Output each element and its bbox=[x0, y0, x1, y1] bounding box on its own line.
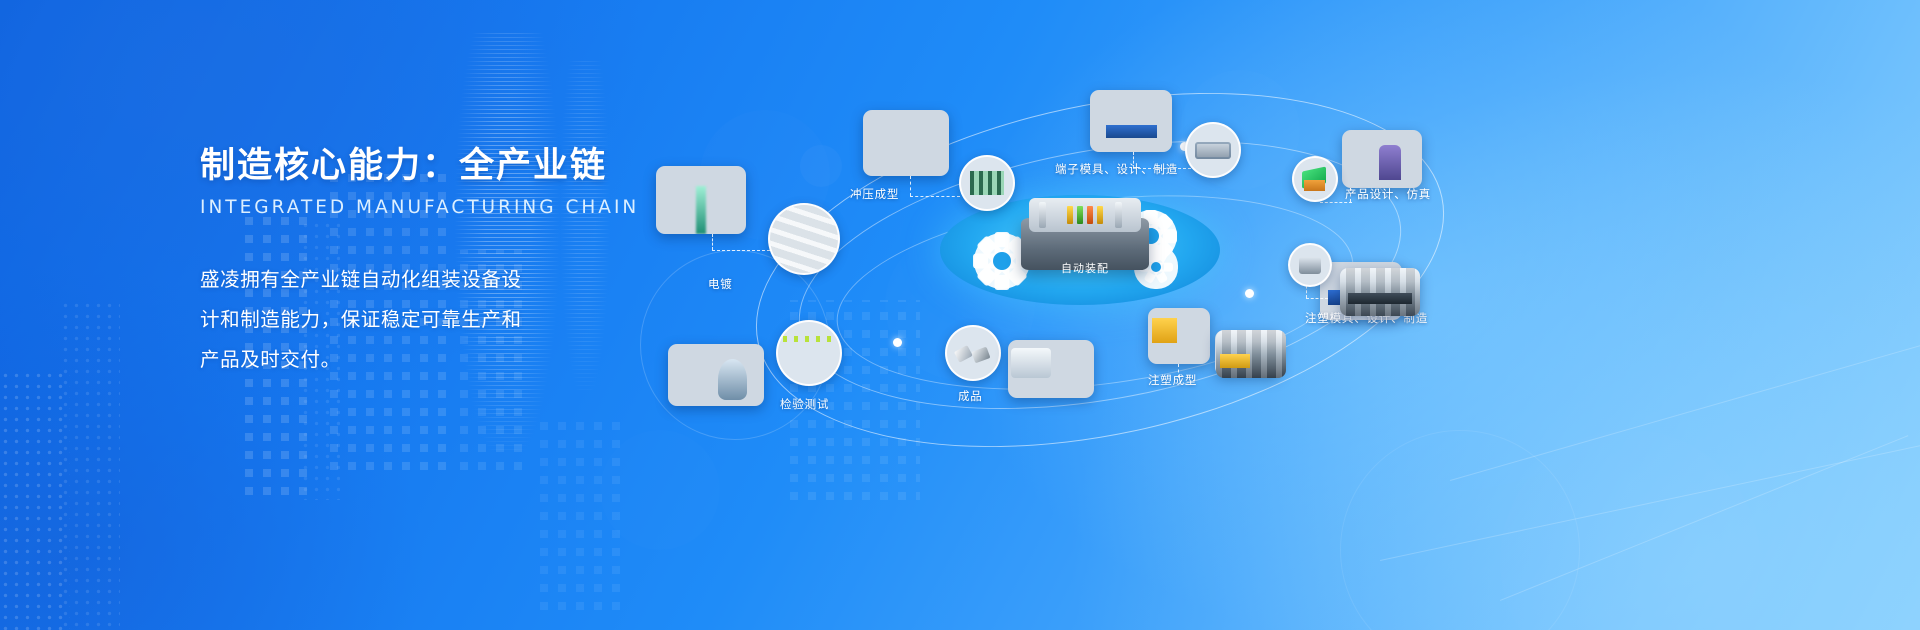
node-injection-forming-label: 注塑成型 bbox=[1148, 372, 1197, 388]
machine-rail-2 bbox=[1115, 202, 1122, 228]
machine-chip-4 bbox=[1097, 206, 1103, 224]
node-product-design-label: 产品设计、仿真 bbox=[1345, 186, 1431, 202]
node-inspection-label: 检验测试 bbox=[780, 396, 829, 412]
orbit-node-dot-4 bbox=[1245, 289, 1254, 298]
hub-center-label: 自动装配 bbox=[1015, 260, 1155, 276]
node-assembly-line-photo bbox=[1008, 340, 1094, 398]
machine-chip-2 bbox=[1077, 206, 1083, 224]
description-line-2: 计和制造能力，保证稳定可靠生产和 bbox=[200, 300, 620, 340]
gold-terminal-strip-icon bbox=[768, 203, 840, 275]
machine-rail-1 bbox=[1039, 202, 1046, 228]
assembly-tray-icon bbox=[1185, 122, 1241, 178]
connector-pair-icon bbox=[945, 325, 1001, 381]
node-plating-photo bbox=[656, 166, 746, 234]
node-plating-label: 电镀 bbox=[708, 276, 733, 292]
banner-description: 盛凌拥有全产业链自动化组装设备设 计和制造能力，保证稳定可靠生产和 产品及时交付… bbox=[200, 260, 620, 380]
machine-chip-3 bbox=[1087, 206, 1093, 224]
pin-header-icon bbox=[776, 320, 842, 386]
banner-copy: 制造核心能力：全产业链 INTEGRATED MANUFACTURING CHA… bbox=[200, 146, 620, 380]
page-subtitle: INTEGRATED MANUFACTURING CHAIN bbox=[200, 197, 620, 218]
orbit-node-dot-2 bbox=[893, 338, 902, 347]
node-stamping-photo bbox=[863, 110, 949, 176]
node-terminal-mold-label: 端子模具、设计、制造 bbox=[1055, 161, 1178, 177]
page-title: 制造核心能力：全产业链 bbox=[200, 146, 620, 187]
description-line-1: 盛凌拥有全产业链自动化组装设备设 bbox=[200, 260, 620, 300]
3d-model-icon bbox=[1292, 156, 1338, 202]
clamp-fixture-icon bbox=[1288, 243, 1332, 287]
machine-chip-1 bbox=[1067, 206, 1073, 224]
node-finished-goods-label: 成品 bbox=[958, 388, 983, 404]
node-product-design-photo bbox=[1342, 130, 1422, 188]
cnc-shop-photo bbox=[1340, 268, 1420, 316]
node-terminal-mold-photo bbox=[1090, 90, 1172, 152]
automatic-assembly-machine: 自动装配 bbox=[1015, 172, 1155, 282]
node-injection-forming-photo bbox=[1148, 308, 1210, 364]
supply-chain-diagram: 自动装配 电镀 冲压成型 bbox=[620, 0, 1920, 630]
robot-cell-photo bbox=[1216, 330, 1286, 378]
node-inspection-photo bbox=[668, 344, 764, 406]
description-line-3: 产品及时交付。 bbox=[200, 340, 620, 380]
node-stamping-label: 冲压成型 bbox=[850, 186, 899, 202]
green-machine-icon bbox=[959, 155, 1015, 211]
manufacturing-capability-banner: 制造核心能力：全产业链 INTEGRATED MANUFACTURING CHA… bbox=[0, 0, 1920, 630]
decor-dot-column-left2 bbox=[60, 300, 120, 630]
